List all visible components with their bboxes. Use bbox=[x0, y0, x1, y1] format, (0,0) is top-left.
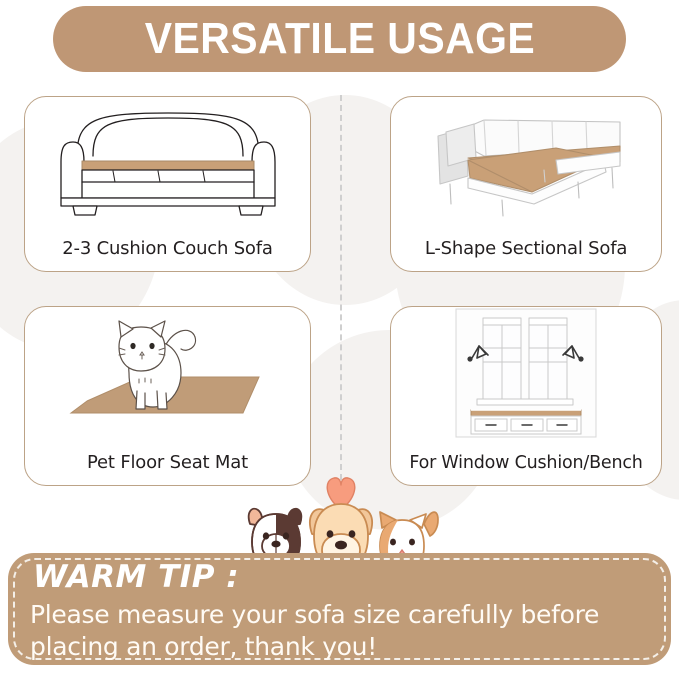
vertical-dashed-divider bbox=[340, 95, 342, 490]
warm-tip-heading: WARM TIP : bbox=[33, 559, 239, 595]
usage-card-couch-sofa: 2-3 Cushion Couch Sofa bbox=[24, 96, 311, 272]
window-bench-illustration bbox=[391, 307, 661, 439]
warm-tip-line-1: Please measure your sofa size carefully … bbox=[30, 599, 653, 631]
header-pill: VERSATILE USAGE bbox=[53, 6, 626, 72]
sectional-sofa-illustration bbox=[391, 97, 661, 225]
usage-card-window-bench: For Window Cushion/Bench bbox=[390, 306, 662, 486]
warm-tip-message: Please measure your sofa size carefully … bbox=[30, 599, 653, 663]
usage-card-sectional-sofa: L-Shape Sectional Sofa bbox=[390, 96, 662, 272]
warm-tip-banner: WARM TIP : Please measure your sofa size… bbox=[8, 553, 671, 665]
cat-on-mat-illustration bbox=[25, 307, 310, 439]
couch-sofa-illustration bbox=[25, 97, 310, 225]
warm-tip-line-2: placing an order, thank you! bbox=[30, 631, 653, 663]
card-caption: 2-3 Cushion Couch Sofa bbox=[25, 238, 310, 259]
card-caption: Pet Floor Seat Mat bbox=[25, 452, 310, 473]
card-caption: L-Shape Sectional Sofa bbox=[391, 238, 661, 259]
infographic-canvas: VERSATILE USAGE bbox=[0, 0, 679, 680]
card-caption: For Window Cushion/Bench bbox=[391, 453, 661, 473]
page-title: VERSATILE USAGE bbox=[144, 14, 534, 64]
usage-card-pet-mat: Pet Floor Seat Mat bbox=[24, 306, 311, 486]
